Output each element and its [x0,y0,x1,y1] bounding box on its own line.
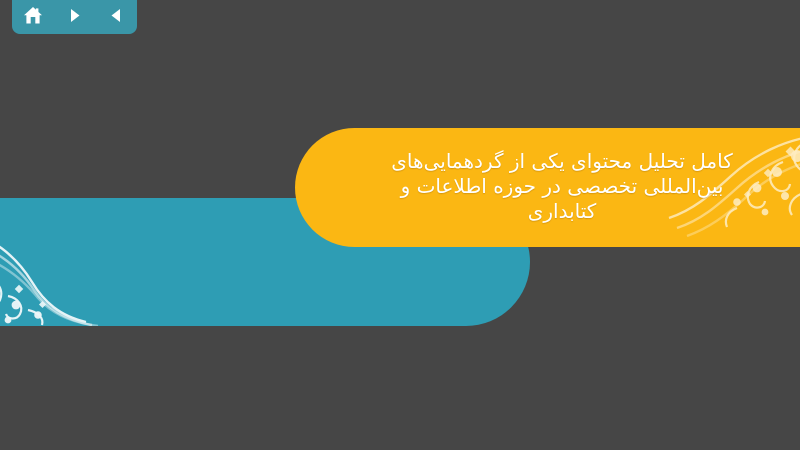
forward-triangle-icon [66,7,83,24]
home-button[interactable] [18,2,48,28]
presentation-slide: کامل تحلیل محتوای یکی از گردهمایی‌های بی… [0,0,800,450]
back-button[interactable] [101,2,131,28]
navigation-bar [12,0,137,34]
arabesque-ornament-top-right [625,128,800,247]
title-panel [295,128,800,247]
forward-button[interactable] [60,2,90,28]
arabesque-ornament-bottom-left [0,198,150,326]
home-house-icon [23,6,43,25]
back-triangle-icon [108,7,125,24]
